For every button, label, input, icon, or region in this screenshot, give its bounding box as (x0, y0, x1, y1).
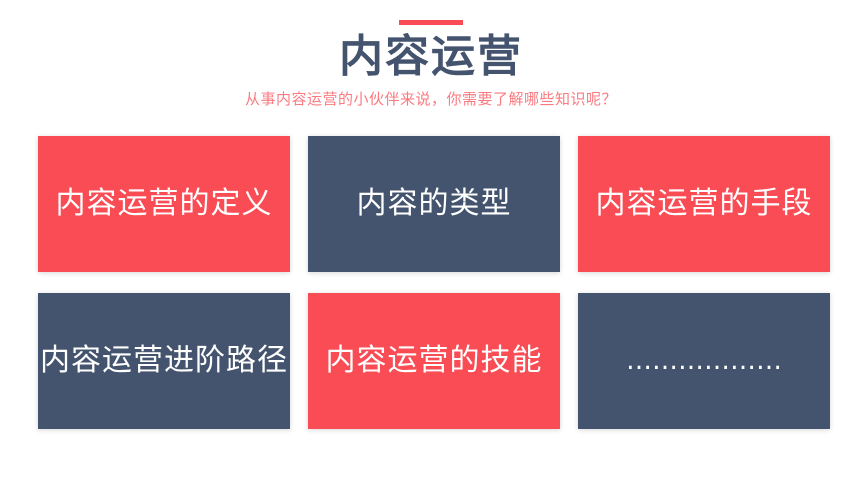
title-accent-bar (399, 20, 463, 25)
topic-card-label: 内容运营的技能 (326, 343, 543, 379)
slide-header: 内容运营 从事内容运营的小伙伴来说，你需要了解哪些知识呢？ (0, 0, 862, 109)
topic-card-6[interactable]: ……………… (578, 293, 830, 429)
topic-card-1[interactable]: 内容运营的定义 (38, 136, 290, 272)
topic-card-grid: 内容运营的定义 内容的类型 内容运营的手段 内容运营进阶路径 内容运营的技能 …… (38, 136, 830, 429)
page-title: 内容运营 (0, 31, 862, 83)
topic-card-label: 内容运营的定义 (56, 186, 273, 222)
topic-card-5[interactable]: 内容运营的技能 (308, 293, 560, 429)
topic-card-label: 内容运营进阶路径 (40, 343, 288, 379)
topic-card-3[interactable]: 内容运营的手段 (578, 136, 830, 272)
topic-card-4[interactable]: 内容运营进阶路径 (38, 293, 290, 429)
topic-card-label-ellipsis: ……………… (626, 343, 782, 379)
topic-card-2[interactable]: 内容的类型 (308, 136, 560, 272)
slide-root: 内容运营 从事内容运营的小伙伴来说，你需要了解哪些知识呢？ 内容运营的定义 内容… (0, 0, 862, 485)
page-subtitle: 从事内容运营的小伙伴来说，你需要了解哪些知识呢？ (0, 89, 862, 109)
topic-card-label: 内容的类型 (357, 186, 512, 222)
topic-card-label: 内容运营的手段 (596, 186, 813, 222)
